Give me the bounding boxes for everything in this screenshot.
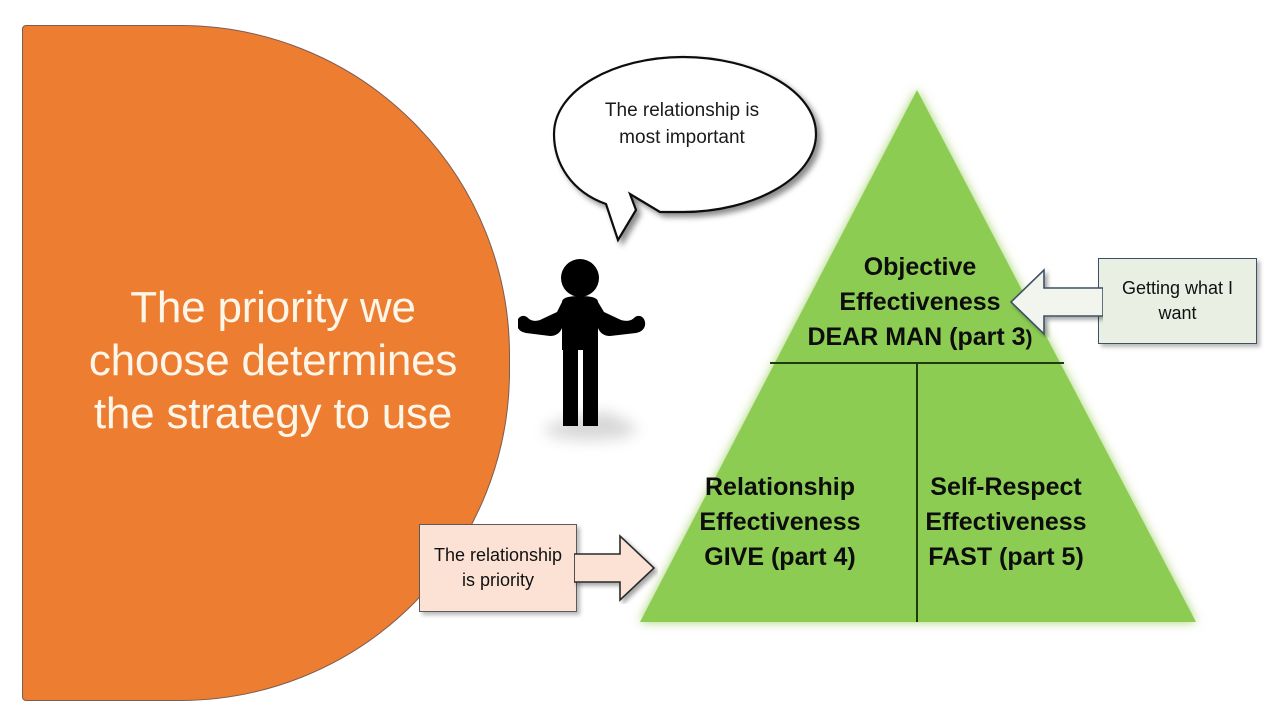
slide-canvas: The priority we choose determines the st…	[0, 0, 1280, 720]
pyramid-bl-line2: Effectiveness	[664, 505, 896, 540]
pyramid-br-line3: FAST (part 5)	[890, 540, 1122, 575]
pyramid-br-line2: Effectiveness	[890, 505, 1122, 540]
arrow-left-icon	[1008, 266, 1103, 338]
pyramid-bottom-right-label: Self-Respect Effectiveness FAST (part 5)	[890, 470, 1122, 575]
callout-relationship-priority: The relationship is priority	[419, 524, 577, 612]
orange-panel-text: The priority we choose determines the st…	[63, 281, 483, 440]
pyramid-bottom-left-label: Relationship Effectiveness GIVE (part 4)	[664, 470, 896, 575]
pyramid-br-line1: Self-Respect	[890, 470, 1122, 505]
callout-relationship-priority-text: The relationship is priority	[420, 543, 576, 593]
pyramid-top-line3-main: DEAR MAN (part 3	[807, 323, 1025, 351]
callout-getting-what-i-want-text: Getting what I want	[1099, 276, 1256, 326]
pyramid-bl-line1: Relationship	[664, 470, 896, 505]
pyramid-bl-line3: GIVE (part 4)	[664, 540, 896, 575]
effectiveness-pyramid: Objective Effectiveness DEAR MAN (part 3…	[630, 82, 1210, 634]
arrow-right-icon	[574, 532, 658, 604]
callout-getting-what-i-want: Getting what I want	[1098, 258, 1257, 344]
